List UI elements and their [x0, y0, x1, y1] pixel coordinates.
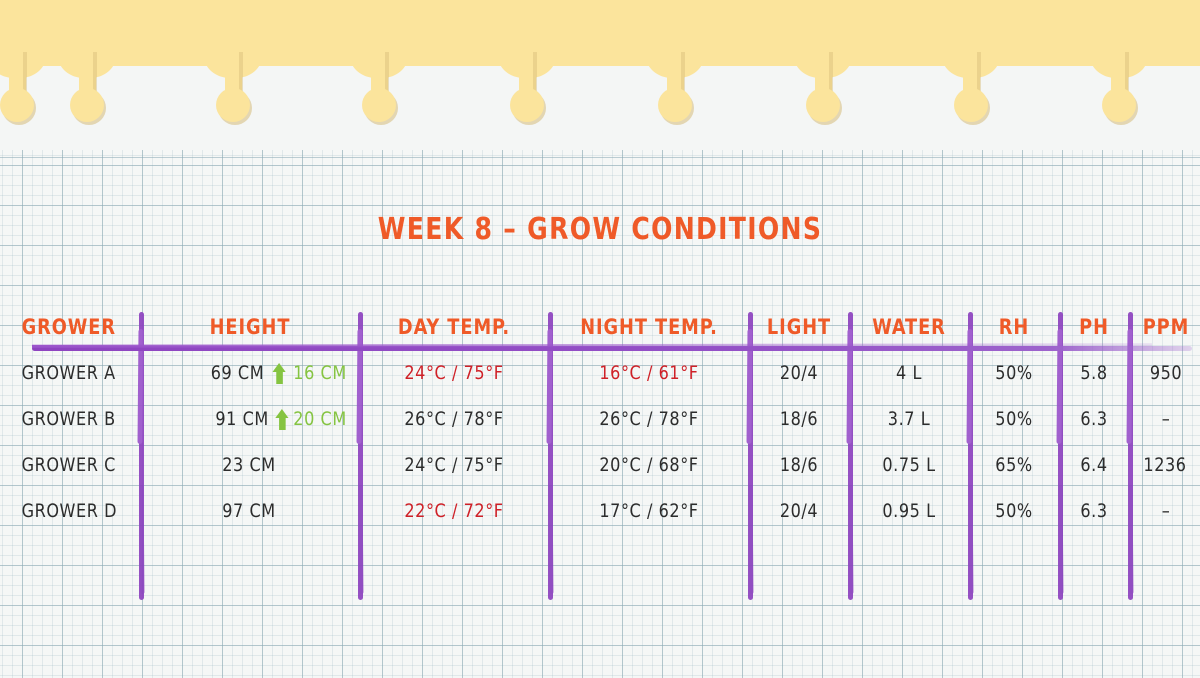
- arrow-up-icon: [273, 363, 287, 384]
- height-value: 69 CM: [211, 362, 264, 384]
- page-title: WEEK 8 – GROW CONDITIONS: [42, 212, 1158, 247]
- binding-tab: [954, 52, 988, 138]
- column-header-grower: GROWER: [22, 310, 135, 344]
- table-row: GROWER A: [22, 356, 135, 390]
- column-header-height: HEIGHT: [151, 310, 348, 344]
- table-row: GROWER C: [22, 448, 135, 482]
- binding-strip: [0, 0, 1200, 66]
- column-divider: [748, 312, 753, 600]
- binding-tab: [70, 52, 104, 138]
- table-row: –: [1134, 402, 1198, 436]
- column-divider: [548, 312, 553, 600]
- column-divider: [1058, 312, 1063, 600]
- height-value: 91 CM: [215, 408, 268, 430]
- table-row: 22°C / 72°F: [368, 494, 541, 528]
- binding-tab: [1102, 52, 1136, 138]
- table-row: 24°C / 75°F: [368, 448, 541, 482]
- table-row: 0.95 L: [855, 494, 962, 528]
- table-row: 4 L: [855, 356, 962, 390]
- height-delta: 16 CM: [293, 362, 346, 384]
- column-header-day-temp: DAY TEMP.: [368, 310, 541, 344]
- binding-tab: [510, 52, 544, 138]
- table-row: 950: [1134, 356, 1198, 390]
- table-row: GROWER D: [22, 494, 135, 528]
- table-row: 6.4: [1064, 448, 1124, 482]
- table-row: 17°C / 62°F: [558, 494, 740, 528]
- table-row: 65%: [975, 448, 1054, 482]
- table-row: 1236: [1132, 448, 1198, 482]
- table-row: 16°C / 61°F: [558, 356, 740, 390]
- table-row: 6.3: [1064, 402, 1124, 436]
- column-divider: [358, 312, 363, 600]
- table-row: 97 CM: [151, 494, 347, 528]
- binding-tab: [216, 52, 250, 138]
- table-row: 18/6: [755, 448, 843, 482]
- height-delta: 20 CM: [293, 408, 346, 430]
- column-header-ppm: PPM: [1134, 310, 1198, 344]
- grow-conditions-table: WEEK 8 – GROW CONDITIONS GROWER HEIGHT D…: [0, 150, 1200, 678]
- arrow-up-icon: [275, 409, 289, 430]
- table-row: 0.75 L: [855, 448, 962, 482]
- table-row: 20°C / 68°F: [558, 448, 740, 482]
- column-header-light: LIGHT: [755, 310, 843, 344]
- table-row: 50%: [975, 356, 1054, 390]
- header-underline: [32, 346, 1192, 351]
- table-row: 26°C / 78°F: [558, 402, 740, 436]
- table-row: –: [1134, 494, 1198, 528]
- binding-tab: [362, 52, 396, 138]
- binding-tab: [0, 52, 34, 138]
- table-row: 5.8: [1064, 356, 1124, 390]
- binding-tab: [806, 52, 840, 138]
- table-row: 20/4: [755, 494, 843, 528]
- table-row: 50%: [975, 402, 1054, 436]
- table-row: 26°C / 78°F: [368, 402, 541, 436]
- table-row: 91 CM 20 CM: [151, 402, 347, 436]
- column-header-night-temp: NIGHT TEMP.: [558, 310, 740, 344]
- table-row: GROWER B: [22, 402, 135, 436]
- table-row: 23 CM: [151, 448, 347, 482]
- table-row: 3.7 L: [855, 402, 962, 436]
- table-row: 24°C / 75°F: [368, 356, 541, 390]
- column-header-ph: PH: [1064, 310, 1124, 344]
- notebook-page: WEEK 8 – GROW CONDITIONS GROWER HEIGHT D…: [0, 0, 1200, 678]
- table-row: 69 CM 16 CM: [151, 356, 347, 390]
- column-header-water: WATER: [855, 310, 962, 344]
- binding-tab: [658, 52, 692, 138]
- column-divider: [139, 312, 144, 600]
- table-row: 20/4: [755, 356, 843, 390]
- table-row: 50%: [975, 494, 1054, 528]
- spiral-binding: [0, 0, 1200, 150]
- table-row: 18/6: [755, 402, 843, 436]
- column-divider: [848, 312, 853, 600]
- column-header-rh: RH: [975, 310, 1054, 344]
- column-divider: [968, 312, 973, 600]
- table-row: 6.3: [1064, 494, 1124, 528]
